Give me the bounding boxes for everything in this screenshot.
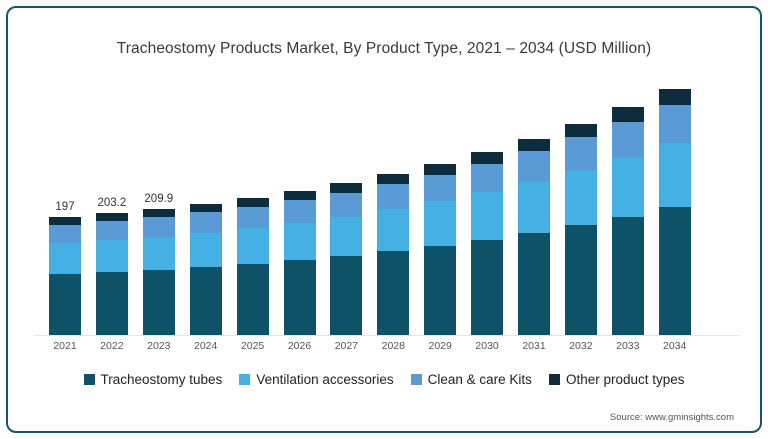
bar-stack [424, 164, 456, 335]
bar-segment [143, 217, 175, 237]
bar-segment [96, 213, 128, 221]
x-axis-line [34, 335, 740, 336]
bar-segment [659, 89, 691, 105]
bar-segment [659, 207, 691, 335]
plot-area: 197203.2209.9 [42, 83, 730, 335]
bar-segment [612, 107, 644, 122]
bar-segment [471, 164, 503, 193]
bar-segment [96, 240, 128, 272]
bar-segment [659, 143, 691, 207]
chart-title: Tracheostomy Products Market, By Product… [8, 40, 760, 58]
x-axis-tick-label: 2032 [558, 340, 604, 352]
x-axis-tick-label: 2028 [370, 340, 416, 352]
x-axis-tick-label: 2023 [136, 340, 182, 352]
bar-stack [237, 198, 269, 335]
x-axis-tick-label: 2022 [89, 340, 135, 352]
bar-segment [330, 183, 362, 193]
bar-segment [237, 228, 269, 264]
x-axis-tick-label: 2029 [417, 340, 463, 352]
bar-segment [190, 233, 222, 267]
bar-segment [612, 122, 644, 157]
bar-stack [612, 107, 644, 335]
bar-segment [190, 204, 222, 212]
bar-segment [471, 240, 503, 335]
bar-segment [565, 124, 597, 138]
legend-label: Ventilation accessories [256, 372, 393, 387]
bar-segment [190, 212, 222, 233]
bar-stack [565, 124, 597, 335]
bar-stack [330, 183, 362, 335]
bar-stack [49, 217, 81, 335]
legend-label: Tracheostomy tubes [101, 372, 223, 387]
bar-segment [96, 272, 128, 335]
bar-segment [190, 267, 222, 335]
bar-value-label: 203.2 [98, 197, 127, 209]
bar-segment [471, 192, 503, 240]
x-axis-labels: 2021202220232024202520262027202820292030… [42, 340, 730, 358]
bar-value-label: 197 [55, 201, 74, 213]
bar-segment [49, 217, 81, 225]
bar-segment [424, 164, 456, 175]
bar-value-label: 209.9 [144, 193, 173, 205]
bar-segment [330, 193, 362, 217]
bar-stack [143, 209, 175, 335]
bar-segment [143, 237, 175, 270]
bar-stack [377, 174, 409, 335]
chart-frame: Tracheostomy Products Market, By Product… [6, 6, 762, 433]
bar-segment [96, 221, 128, 240]
bar-segment [518, 233, 550, 335]
bar-segment [377, 174, 409, 184]
legend-label: Other product types [566, 372, 685, 387]
x-axis-tick-label: 2034 [652, 340, 698, 352]
bar-segment [471, 152, 503, 164]
x-axis-tick-label: 2030 [464, 340, 510, 352]
bar-stack [284, 191, 316, 335]
bar-segment [237, 207, 269, 229]
x-axis-tick-label: 2025 [230, 340, 276, 352]
bar-stack [659, 89, 691, 335]
bar-segment [518, 151, 550, 182]
source-attribution: Source: www.gminsights.com [610, 412, 734, 423]
chart-legend: Tracheostomy tubesVentilation accessorie… [8, 372, 760, 387]
bar-segment [377, 209, 409, 251]
legend-swatch-icon [549, 374, 560, 385]
bar-segment [612, 157, 644, 216]
bar-segment [565, 225, 597, 335]
bar-segment [284, 191, 316, 200]
bar-stack [96, 213, 128, 335]
bar-segment [49, 243, 81, 274]
x-axis-tick-label: 2027 [323, 340, 369, 352]
bar-stack [190, 204, 222, 335]
bar-segment [284, 260, 316, 335]
bar-segment [143, 209, 175, 217]
bar-segment [330, 217, 362, 257]
bar-segment [377, 184, 409, 209]
bar-segment [237, 264, 269, 335]
bar-segment [659, 105, 691, 143]
x-axis-tick-label: 2031 [511, 340, 557, 352]
bar-segment [518, 182, 550, 233]
bar-segment [424, 175, 456, 202]
bar-stack [518, 139, 550, 335]
bar-segment [377, 251, 409, 335]
bar-stack [471, 152, 503, 335]
legend-label: Clean & care Kits [428, 372, 532, 387]
bar-segment [565, 137, 597, 170]
bar-segment [565, 170, 597, 225]
bar-segment [284, 223, 316, 261]
x-axis-tick-label: 2024 [183, 340, 229, 352]
x-axis-tick-label: 2033 [605, 340, 651, 352]
bar-segment [518, 139, 550, 152]
bar-segment [49, 225, 81, 244]
bar-segment [237, 198, 269, 207]
x-axis-tick-label: 2026 [277, 340, 323, 352]
bar-segment [424, 246, 456, 335]
legend-swatch-icon [84, 374, 95, 385]
x-axis-tick-label: 2021 [42, 340, 88, 352]
legend-swatch-icon [239, 374, 250, 385]
bar-segment [330, 256, 362, 335]
bar-segment [424, 201, 456, 246]
legend-item[interactable]: Clean & care Kits [411, 372, 532, 387]
bar-segment [143, 270, 175, 335]
legend-swatch-icon [411, 374, 422, 385]
legend-item[interactable]: Tracheostomy tubes [84, 372, 223, 387]
bar-segment [284, 200, 316, 223]
bar-segment [612, 217, 644, 336]
legend-item[interactable]: Ventilation accessories [239, 372, 393, 387]
legend-item[interactable]: Other product types [549, 372, 685, 387]
bar-segment [49, 274, 81, 335]
